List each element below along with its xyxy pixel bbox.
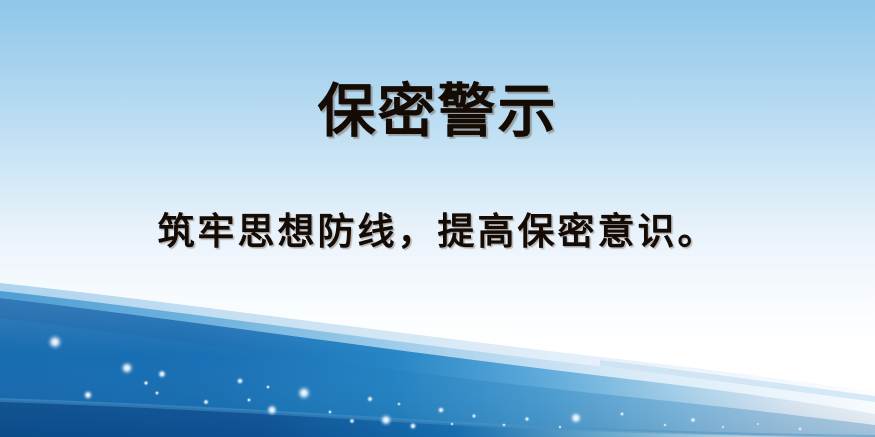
secrecy-warning-poster: 保密警示 筑牢思想防线，提高保密意识。 [0, 0, 875, 437]
page-subtitle: 筑牢思想防线，提高保密意识。 [0, 208, 875, 256]
page-title: 保密警示 [0, 78, 875, 144]
